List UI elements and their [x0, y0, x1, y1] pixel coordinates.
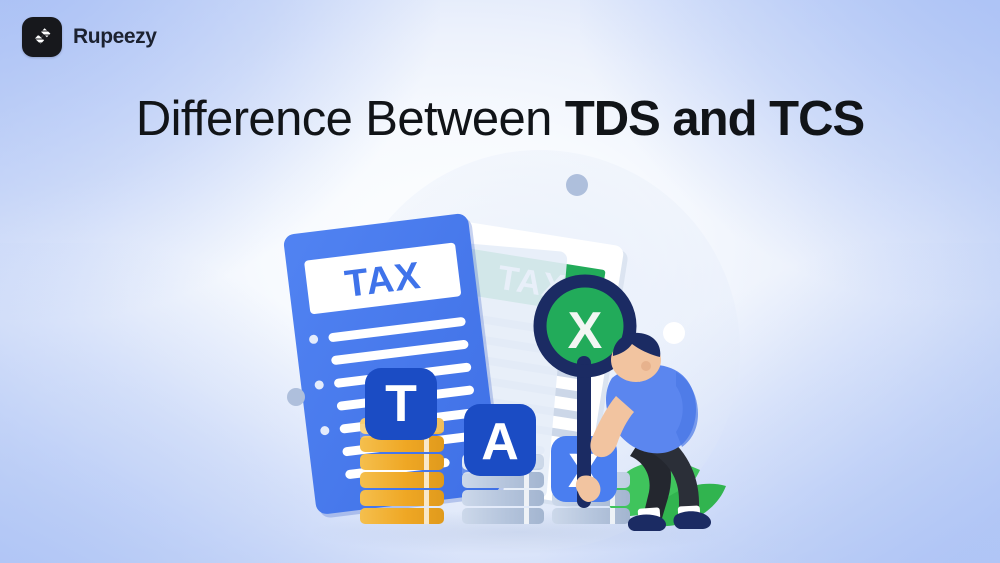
- decor-dot-top: [566, 174, 588, 196]
- letter-tile-t: T: [365, 368, 437, 440]
- decor-dot-left: [287, 388, 305, 406]
- svg-text:A: A: [481, 413, 519, 471]
- svg-text:T: T: [385, 375, 417, 433]
- page-canvas: Rupeezy Difference Between TDS and TCS: [0, 0, 1000, 563]
- letter-tile-a: A: [464, 404, 536, 476]
- tds-tcs-tax-documents-illustration: TAX TAX: [0, 0, 1000, 563]
- svg-text:X: X: [568, 302, 603, 360]
- decor-dot-right: [663, 322, 685, 344]
- shoe-front: [673, 511, 711, 529]
